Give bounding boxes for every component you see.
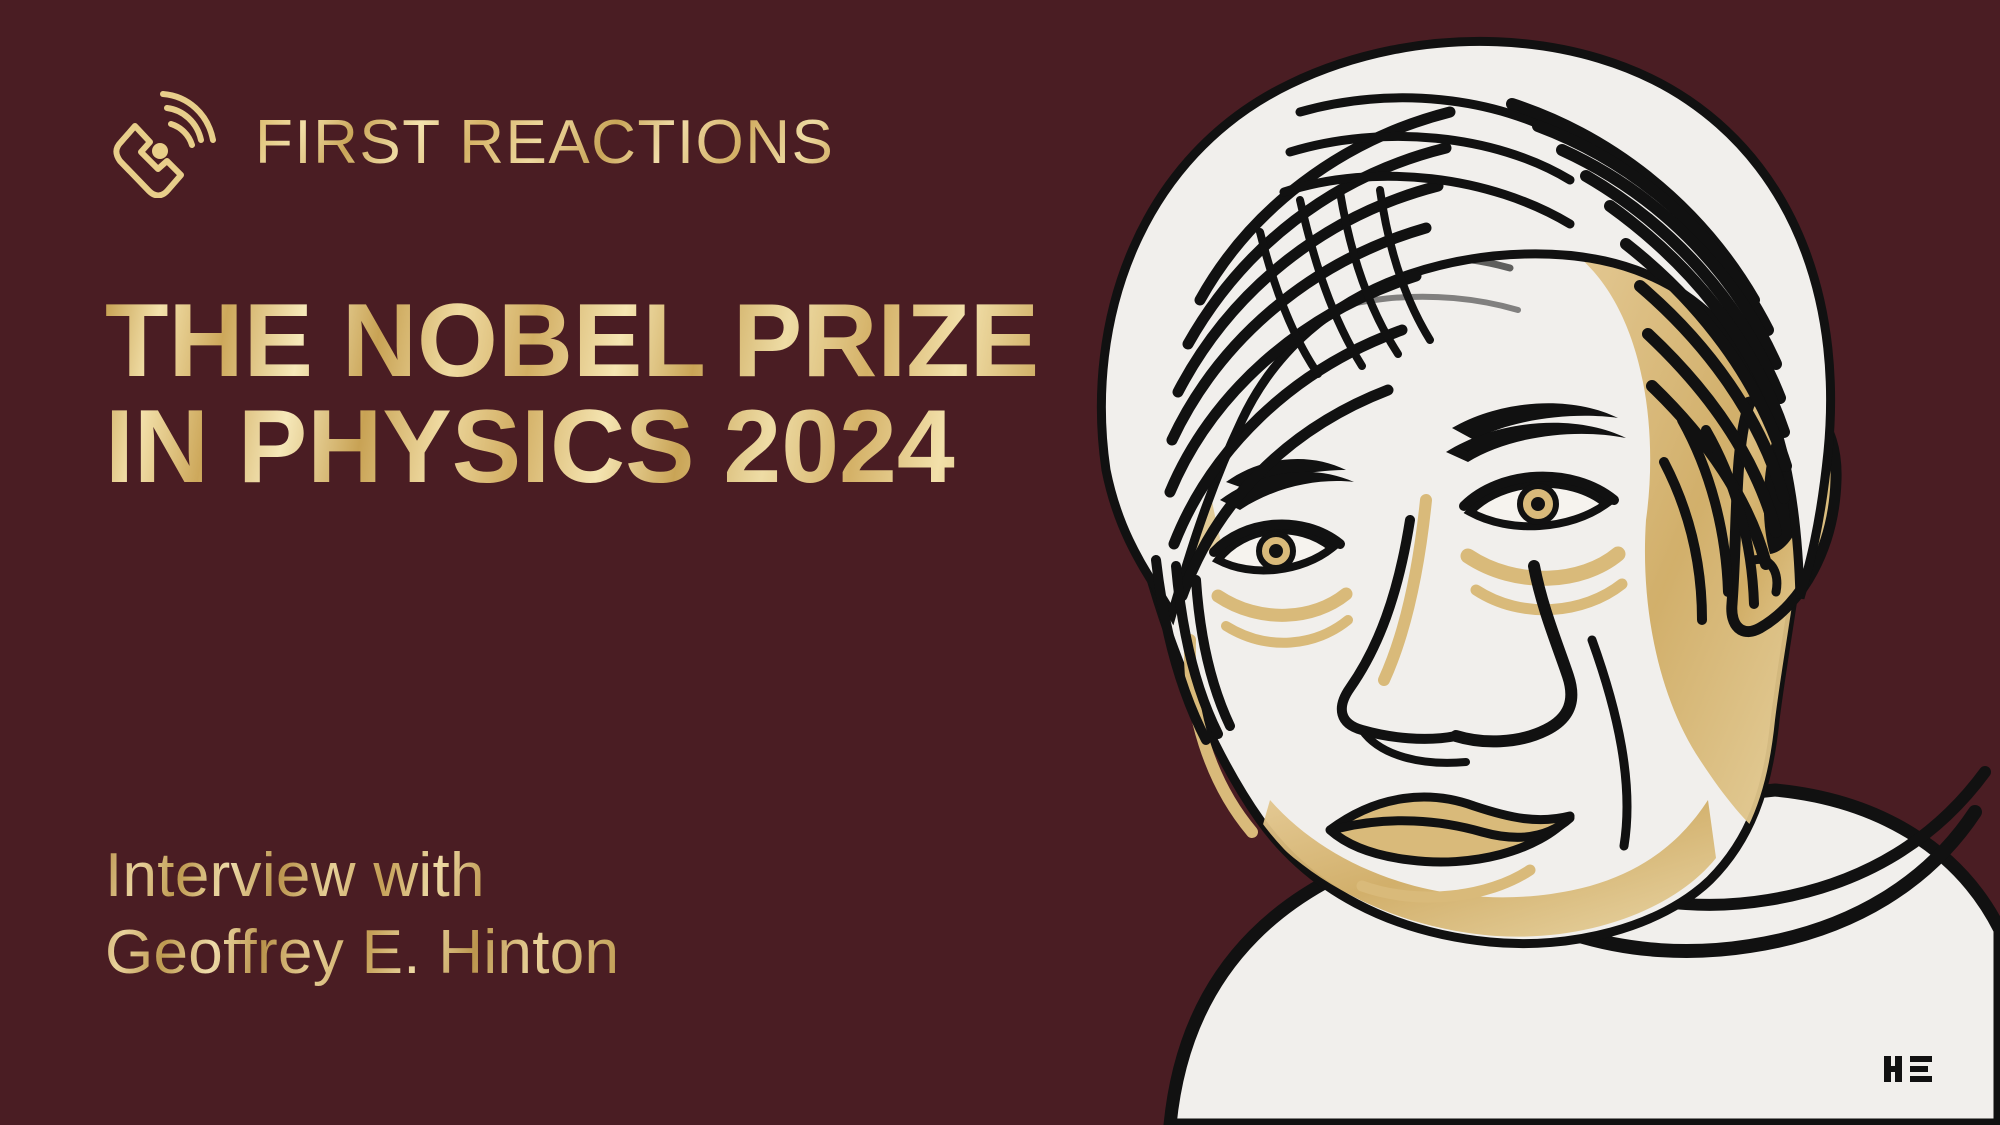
first-reactions-kicker: FIRST REACTIONS: [105, 88, 834, 198]
nobel-prize-announcement-poster: FIRST REACTIONS THE NOBEL PRIZE IN PHYSI…: [0, 0, 2000, 1125]
signal-origin-dot: [152, 143, 168, 159]
interview-subtitle: Interview with Geoffrey E. Hinton: [105, 838, 619, 992]
phone-call-waves-icon: [105, 88, 225, 198]
portrait-illustration: [870, 0, 2000, 1125]
page-title: THE NOBEL PRIZE IN PHYSICS 2024: [105, 288, 1039, 500]
kicker-label: FIRST REACTIONS: [255, 112, 834, 174]
